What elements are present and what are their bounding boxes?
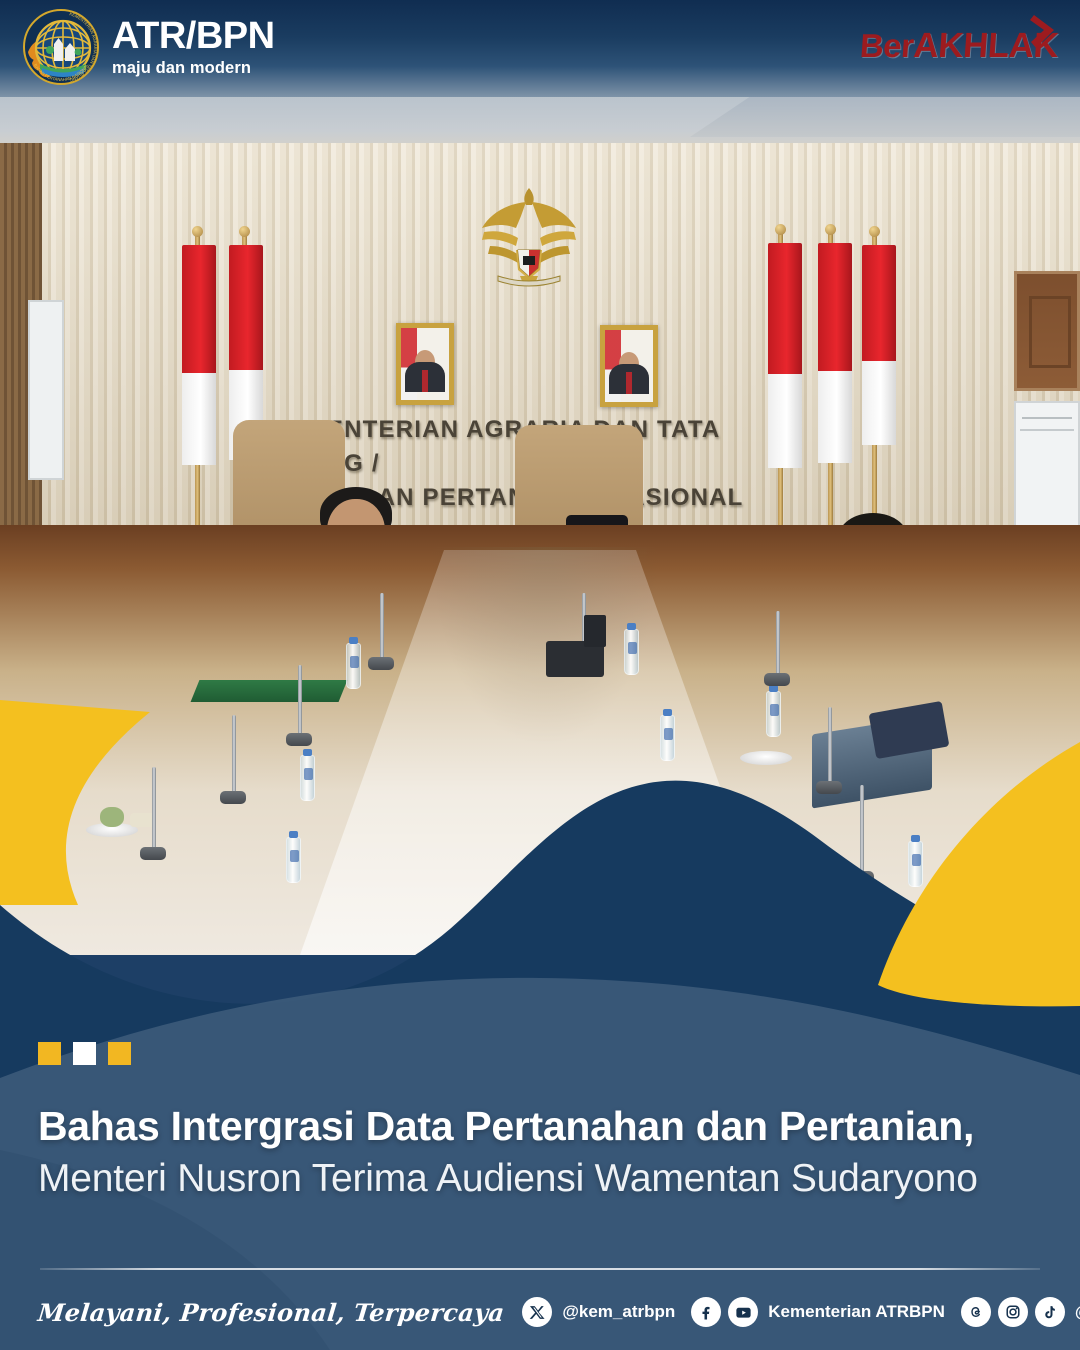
footer-divider [40, 1268, 1040, 1270]
atrbpn-globe-logo: KEMENTERIAN AGRARIA DAN TATA RUANG BADAN… [22, 8, 100, 86]
berakhlak-logo: BerAKHLAK [860, 22, 1058, 70]
facebook-icon[interactable] [691, 1297, 721, 1327]
brand-lockup: KEMENTERIAN AGRARIA DAN TATA RUANG BADAN… [22, 8, 275, 86]
microphone [232, 715, 236, 793]
social-group-threads-ig-tiktok: @kementerian.atrbpn [961, 1297, 1080, 1327]
microphone [776, 611, 780, 675]
water-bottle [346, 643, 361, 689]
social-media-poster: KEMENTERIAN AGRARIA DAN TATA RUANG / BAD… [0, 0, 1080, 1350]
indonesia-flag [182, 245, 216, 465]
microphone [298, 665, 302, 735]
brand-title: ATR/BPN [112, 17, 275, 55]
pen-holder [584, 615, 606, 647]
poster-header: KEMENTERIAN AGRARIA DAN TATA RUANG BADAN… [0, 0, 1080, 97]
water-bottle [300, 755, 315, 801]
water-bottle [766, 691, 781, 737]
decor-squares [38, 1042, 131, 1065]
headline-line2: Menteri Nusron Terima Audiensi Wamentan … [38, 1156, 1048, 1203]
flag-finial [825, 224, 836, 235]
microphone [828, 707, 832, 783]
snack [100, 807, 124, 827]
flag-finial [869, 226, 880, 237]
social-group-fb-yt: Kementerian ATRBPN [691, 1297, 945, 1327]
microphone [152, 767, 156, 849]
decor-square-yellow-1 [38, 1042, 61, 1065]
microphone [860, 785, 864, 873]
water-bottle [908, 841, 923, 887]
tagline: Melayani, Profesional, Terpercaya [36, 1298, 505, 1327]
microphone [380, 593, 384, 659]
plate [740, 751, 792, 765]
social-handle-fb-yt[interactable]: Kementerian ATRBPN [768, 1302, 945, 1322]
headline-line1: Bahas Intergrasi Data Pertanahan dan Per… [38, 1102, 1048, 1150]
youtube-icon[interactable] [728, 1297, 758, 1327]
brand-subtitle: maju dan modern [112, 60, 275, 77]
left-whiteboard [28, 300, 64, 480]
meeting-photo: KEMENTERIAN AGRARIA DAN TATA RUANG / BAD… [0, 95, 1080, 955]
flag-finial [775, 224, 786, 235]
chevron-right-icon [1030, 12, 1060, 57]
decor-square-white [73, 1042, 96, 1065]
social-handle-threads-ig-tiktok[interactable]: @kementerian.atrbpn [1075, 1302, 1080, 1322]
water-bottle [286, 837, 301, 883]
social-handle-x[interactable]: @kem_atrbpn [562, 1302, 675, 1322]
poster-footer: Melayani, Profesional, Terpercaya @kem_a… [38, 1288, 1050, 1336]
x-twitter-icon[interactable] [522, 1297, 552, 1327]
berakhlak-prefix: Ber [858, 27, 914, 64]
decor-square-yellow-2 [108, 1042, 131, 1065]
indonesia-flag [862, 245, 896, 445]
ceiling-panel [690, 95, 1080, 137]
wooden-door [1014, 271, 1080, 391]
water-bottle [624, 629, 639, 675]
indonesia-flag [768, 243, 802, 468]
garuda-pancasila-emblem [476, 180, 582, 290]
green-folder [191, 680, 348, 702]
water-bottle [660, 715, 675, 761]
vice-president-portrait [600, 325, 658, 407]
water-bottle [800, 865, 815, 911]
instagram-icon[interactable] [998, 1297, 1028, 1327]
threads-icon[interactable] [961, 1297, 991, 1327]
tiktok-icon[interactable] [1035, 1297, 1065, 1327]
indonesia-flag [818, 243, 852, 463]
social-group-x: @kem_atrbpn [522, 1297, 675, 1327]
flag-finial [192, 226, 203, 237]
headline-block: Bahas Intergrasi Data Pertanahan dan Per… [38, 1102, 1048, 1203]
president-portrait [396, 323, 454, 405]
flag-finial [239, 226, 250, 237]
